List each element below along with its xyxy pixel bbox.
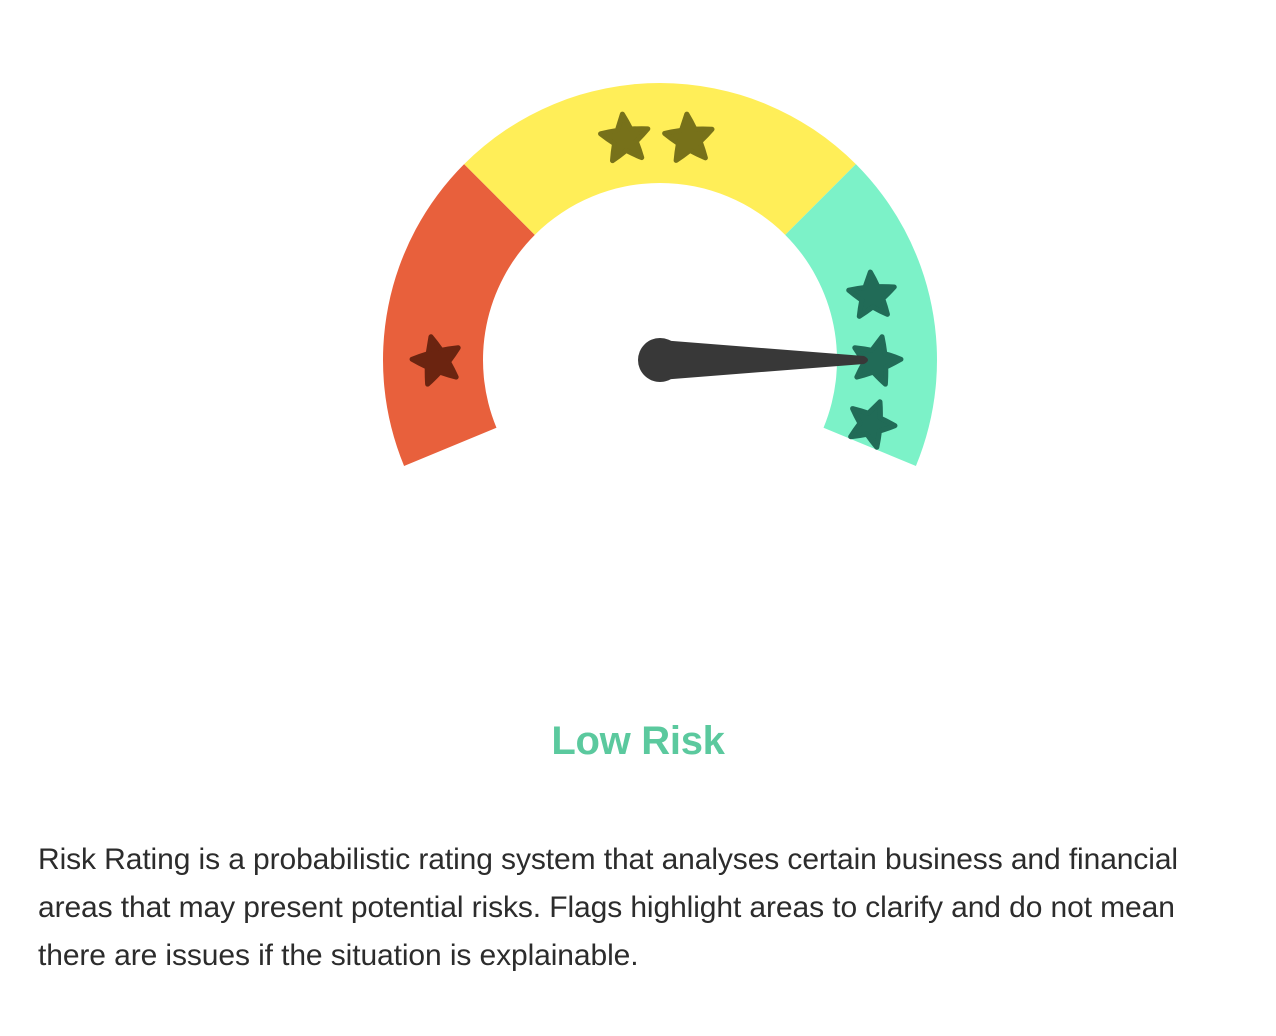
gauge-needle-hub (638, 338, 682, 382)
gauge-needle (638, 338, 868, 382)
risk-rating-card: Low Risk Risk Rating is a probabilistic … (0, 0, 1276, 1036)
gauge-svg (0, 0, 1276, 620)
risk-rating-label: Low Risk (0, 718, 1276, 764)
risk-rating-description: Risk Rating is a probabilistic rating sy… (38, 836, 1238, 980)
risk-gauge (0, 0, 1276, 620)
gauge-needle-group (638, 338, 868, 382)
gauge-segment-medium-risk (464, 83, 856, 235)
